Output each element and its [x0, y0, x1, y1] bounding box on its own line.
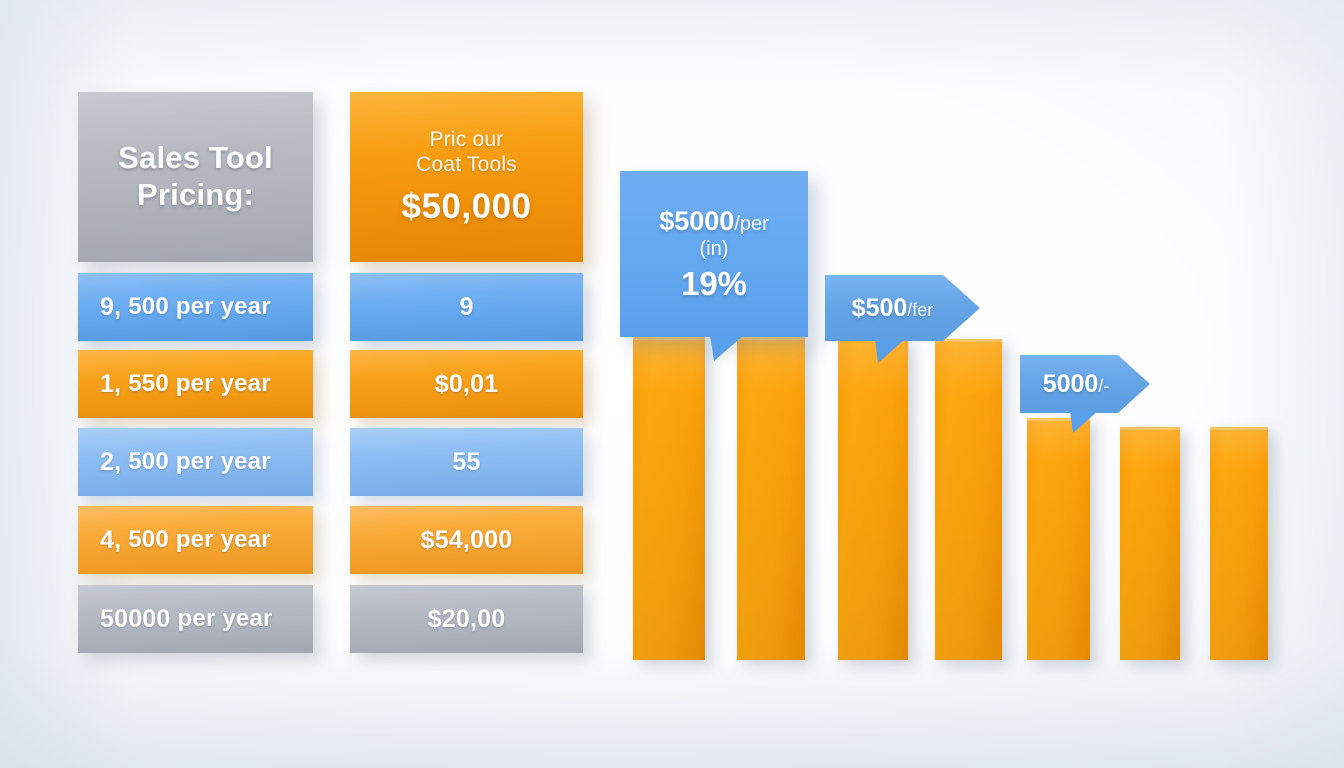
row-label-cell: 2, 500 per year — [78, 428, 313, 496]
row-value: $54,000 — [421, 526, 513, 555]
row-label-cell: 9, 500 per year — [78, 273, 313, 341]
table-title-cell: Sales Tool Pricing: — [78, 92, 313, 262]
chart-bar[interactable] — [1210, 427, 1268, 660]
row-label-number: 1, — [100, 370, 121, 399]
chart-bar[interactable] — [935, 339, 1002, 660]
row-label-suffix: 550 per year — [128, 370, 271, 398]
row-value-cell: $20,00 — [350, 585, 583, 653]
callout-tail-icon — [1070, 411, 1098, 433]
bar-chart: $5000/per (in) 19% $500/fer — [600, 80, 1300, 680]
callout-unit: /per — [734, 213, 768, 235]
callout-tertiary-text: 5000/- — [1020, 355, 1132, 413]
header-subtitle: Pric our Coat Tools — [416, 127, 517, 177]
callout-amount-line: $500/fer — [852, 294, 934, 323]
row-label-cell: 1, 550 per year — [78, 350, 313, 418]
callout-amount-line: 5000/- — [1043, 370, 1110, 399]
row-value: 9 — [459, 293, 473, 322]
pricing-table: Sales Tool Pricing: Pric our Coat Tools … — [78, 92, 590, 662]
callout-unit: /fer — [907, 300, 933, 320]
chart-bar[interactable] — [737, 337, 805, 660]
row-value-cell: $0,01 — [350, 350, 583, 418]
table-header-cost-cell: Pric our Coat Tools $50,000 — [350, 92, 583, 262]
callout-note: (in) — [700, 238, 729, 261]
infographic-canvas: Sales Tool Pricing: Pric our Coat Tools … — [0, 0, 1344, 768]
header-amount: $50,000 — [401, 187, 531, 227]
row-value: 55 — [452, 448, 480, 477]
table-header-row: Sales Tool Pricing: Pric our Coat Tools … — [78, 92, 590, 262]
table-row[interactable]: 1, 550 per year $0,01 — [78, 350, 590, 418]
row-value-cell: $54,000 — [350, 506, 583, 574]
row-label-suffix: 500 per year — [128, 448, 271, 476]
table-row[interactable]: 4, 500 per year $54,000 — [78, 506, 590, 574]
row-value-cell: 9 — [350, 273, 583, 341]
row-label-number: 50000 — [100, 605, 171, 634]
chart-bar[interactable] — [838, 337, 908, 660]
callout-amount-line: $5000/per — [659, 206, 769, 237]
row-label-suffix: 500 per year — [128, 293, 271, 321]
table-row[interactable]: 9, 500 per year 9 — [78, 273, 590, 341]
chart-bar[interactable] — [1027, 418, 1090, 660]
table-row[interactable]: 50000 per year $20,00 — [78, 585, 590, 653]
chart-bar[interactable] — [633, 337, 705, 660]
callout-amount: 5000 — [1043, 370, 1099, 398]
row-value: $0,01 — [435, 370, 499, 399]
callout-percent: 19% — [681, 265, 747, 303]
row-label-cell: 4, 500 per year — [78, 506, 313, 574]
row-label-number: 4, — [100, 526, 121, 555]
callout-bubble-primary[interactable]: $5000/per (in) 19% — [620, 171, 808, 337]
table-row[interactable]: 2, 500 per year 55 — [78, 428, 590, 496]
callout-unit: /- — [1098, 376, 1109, 396]
page-title: Sales Tool Pricing: — [118, 140, 273, 213]
row-label-suffix: 500 per year — [128, 526, 271, 554]
callout-tail-icon — [875, 339, 905, 363]
callout-tail-icon — [710, 335, 744, 361]
row-label-number: 9, — [100, 293, 121, 322]
row-value: $20,00 — [428, 605, 506, 634]
row-value-cell: 55 — [350, 428, 583, 496]
callout-secondary-text: $500/fer — [825, 275, 960, 341]
row-label-suffix: per year — [178, 605, 273, 633]
chart-bar[interactable] — [1120, 427, 1180, 660]
row-label-cell: 50000 per year — [78, 585, 313, 653]
callout-amount: $5000 — [659, 206, 734, 236]
callout-amount: $500 — [852, 294, 908, 322]
row-label-number: 2, — [100, 448, 121, 477]
